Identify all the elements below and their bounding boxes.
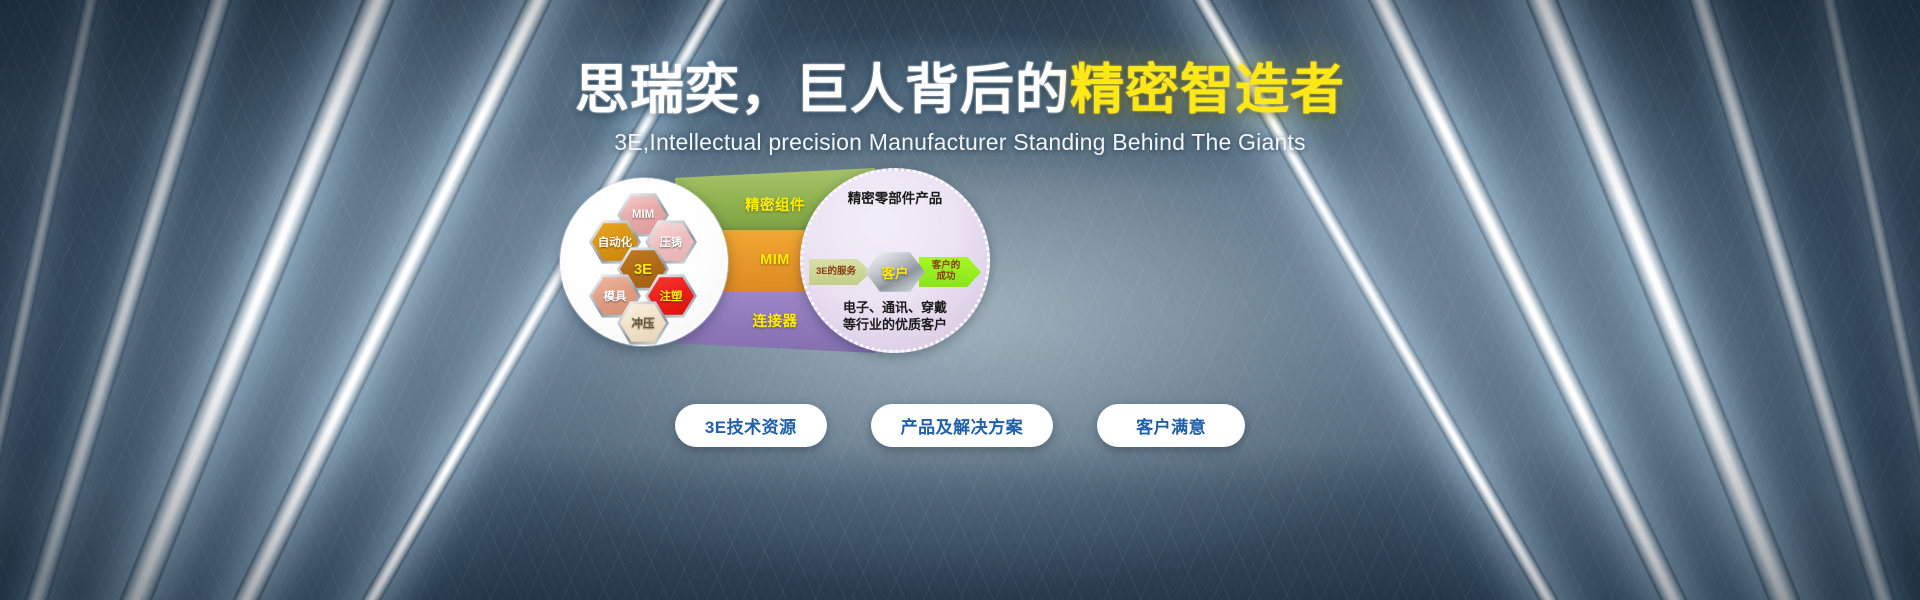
- headline-accent-text: 精密智造者: [1070, 60, 1345, 120]
- hexagon-customer-label: 客户: [882, 262, 909, 282]
- hexagon-mim-label: MIM: [632, 209, 654, 221]
- hexagon-automation-label: 自动化: [598, 234, 633, 250]
- button-products-solutions[interactable]: 产品及解决方案: [871, 404, 1054, 447]
- customer-flow-row: 3E的服务 客户 客户的 成功: [803, 252, 987, 292]
- hexagon-stamping-label: 冲压: [632, 315, 655, 331]
- hexagon-injection-molding-label: 注塑: [660, 288, 683, 304]
- success-chevron: 客户的 成功: [919, 257, 981, 287]
- capability-diagram: 精密组件 MIM 连接器 MIM 压铸 自动化: [560, 168, 990, 353]
- headline-block: 思瑞奕，巨人背后的精密智造者 3E,Intellectual precision…: [0, 62, 1920, 156]
- customer-footer-line1: 电子、通讯、穿戴: [803, 299, 987, 317]
- customer-circle: 精密零部件产品 3E的服务 客户 客户的 成功 电子、通讯、穿戴: [800, 168, 990, 353]
- customer-circle-footer: 电子、通讯、穿戴 等行业的优质客户: [803, 299, 987, 334]
- hexagon-3e-core-label: 3E: [634, 261, 652, 278]
- hexagon-die-casting-label: 压铸: [660, 234, 683, 250]
- service-chevron-label: 3E的服务: [816, 267, 856, 278]
- headline-main-text: 思瑞奕，巨人背后的: [575, 60, 1070, 120]
- page-title: 思瑞奕，巨人背后的精密智造者: [0, 62, 1920, 119]
- hexagon-capability-circle: MIM 压铸 自动化 3E 注塑 模具: [560, 178, 728, 346]
- customer-circle-title: 精密零部件产品: [803, 187, 987, 207]
- banner-stage: 思瑞奕，巨人背后的精密智造者 3E,Intellectual precision…: [0, 0, 1920, 600]
- success-chevron-label-line2: 成功: [932, 272, 961, 283]
- service-chevron: 3E的服务: [809, 259, 871, 285]
- hexagon-customer: 客户: [865, 251, 925, 293]
- cta-button-row: 3E技术资源 产品及解决方案 客户满意: [0, 404, 1920, 447]
- customer-footer-line2: 等行业的优质客户: [803, 316, 987, 334]
- button-tech-resources[interactable]: 3E技术资源: [675, 404, 827, 447]
- button-customer-satisfaction[interactable]: 客户满意: [1097, 404, 1245, 447]
- page-subtitle: 3E,Intellectual precision Manufacturer S…: [0, 129, 1920, 156]
- hexagon-mold-label: 模具: [604, 288, 627, 304]
